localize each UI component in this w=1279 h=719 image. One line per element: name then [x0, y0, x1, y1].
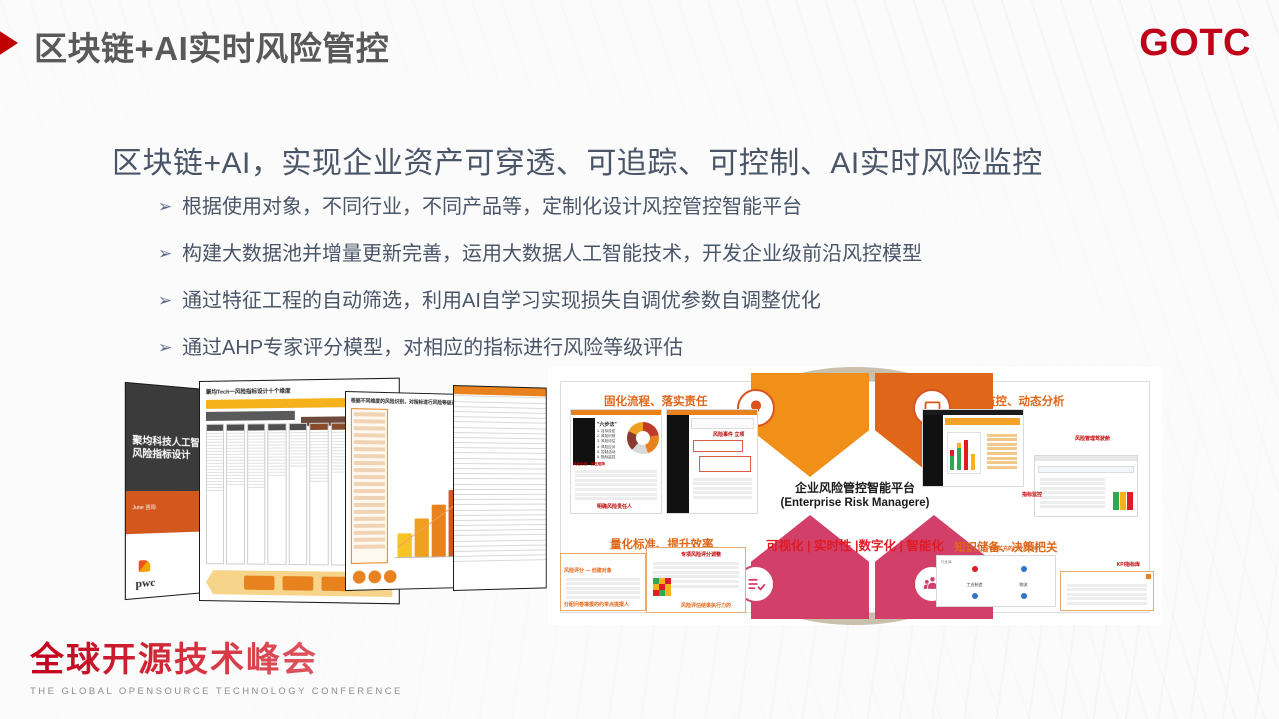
- annotation-cockpit: 风险管理驾驶舱: [1075, 435, 1110, 442]
- chart-page-sidebar: [351, 408, 388, 564]
- bullet-list: ➢ 根据使用对象，不同行业，不同产品等，定制化设计风控管控智能平台 ➢ 构建大数…: [158, 194, 1158, 382]
- matrix-column: [226, 424, 245, 565]
- chart-footer-icon: [384, 570, 397, 583]
- pwc-blocks-icon: [139, 560, 151, 572]
- matrix-page-title: 聚均Tech一风险指标设计十个维度: [206, 387, 291, 396]
- list-item: ➢ 通过AHP专家评分模型，对相应的指标进行风险等级评估: [158, 335, 1158, 361]
- deck-table-page: [453, 385, 547, 591]
- screenshot-indicator-monitor: [1034, 455, 1138, 517]
- matrix-left-group-band: [206, 411, 295, 421]
- annotation-owner: 明确风险责任人: [597, 503, 632, 510]
- industry-tag: 工业制造: [967, 582, 983, 587]
- annotation-score-result: 风险评估结果执行力的: [681, 602, 731, 609]
- wheel-step-list: 1. 目标设定 2. 风险识别 3. 风险评估 4. 风险应对 5. 控制活动 …: [597, 429, 615, 460]
- cover-title-line1: 聚均科技人工智: [132, 435, 199, 449]
- arrow-bullet-icon: ➢: [158, 241, 182, 267]
- screenshot-risk-dashboard: [922, 409, 1024, 487]
- quadrant-label-top-right: 实时监控、动态分析: [961, 393, 1065, 409]
- matrix-chip: [244, 576, 274, 591]
- pwc-wordmark: pwc: [136, 576, 156, 590]
- annotation-scoring: 风险评分 — 创建对象: [564, 567, 612, 574]
- risk-heatmap: [653, 578, 671, 596]
- six-step-donut-chart: [627, 422, 659, 454]
- screenshot-risk-scoring: 风险评分 — 创建对象 分配问卷填报的约束点提报人: [560, 553, 646, 611]
- platform-tags: 可视化 | 实时性 |数字化 | 智能化: [766, 535, 944, 554]
- screenshot-kpi-library: [1060, 571, 1154, 611]
- arrow-bullet-icon: ➢: [158, 194, 182, 220]
- slide-header: 区块链+AI实时风险管控 GOTC: [0, 0, 1279, 86]
- headline: 区块链+AI，实现企业资产可穿透、可追踪、可控制、AI实时风险监控: [112, 138, 1043, 182]
- arrow-bullet-icon: ➢: [158, 335, 182, 361]
- industry-tag: 物流: [1020, 582, 1028, 587]
- wheel-label: "六步法": [597, 421, 617, 428]
- list-item-label: 通过AHP专家评分模型，对相应的指标进行风险等级评估: [182, 335, 683, 361]
- triangle-right-icon: [0, 26, 18, 60]
- screenshot-six-step-wheel: "六步法" 1. 目标设定 2. 风险识别 3. 风险评估 4. 风险应对 5.…: [570, 409, 662, 514]
- cover-title: 聚均科技人工智 风险指标设计: [132, 435, 199, 462]
- chart-footer-icon: [368, 570, 381, 583]
- cover-title-line2: 风险指标设计: [132, 448, 190, 461]
- list-item-label: 构建大数据池并增量更新完善，运用大数据人工智能技术，开发企业级前沿风控模型: [182, 241, 922, 267]
- annotation-special-score: 专项风险评分调整: [681, 551, 721, 558]
- annotation-indicator: 指标监控: [1022, 491, 1042, 498]
- annotation-assign: 分配问卷填报的约束点提报人: [564, 601, 629, 608]
- matrix-chip: [283, 576, 314, 591]
- matrix-column: [247, 423, 266, 564]
- arrow-bullet-icon: ➢: [158, 288, 182, 314]
- screenshot-special-risk-score: 专项风险评分调整 风险评估结果执行力的: [646, 547, 746, 613]
- annotation-industry-library: 不断扩充的行业风险库: [988, 545, 1038, 552]
- list-item: ➢ 通过特征工程的自动筛选，利用AI自学习实现损失自调优参数自调整优化: [158, 288, 1158, 314]
- matrix-column: [268, 423, 287, 565]
- status-color-bars: [1113, 492, 1133, 510]
- annotation-risk-event: 风险事件 立项: [713, 431, 744, 438]
- page-title: 区块链+AI实时风险管控: [34, 22, 389, 70]
- figure-pwc-deck: 聚均科技人工智 风险指标设计 June 咨询 pwc 聚均Tech一风险指标设计…: [121, 381, 553, 601]
- slide-canvas: 区块链+AI实时风险管控 GOTC 区块链+AI，实现企业资产可穿透、可追踪、可…: [0, 0, 1279, 719]
- screenshot-risk-event: 风险事件 立项: [666, 409, 758, 514]
- conference-logo: 全球开源技术峰会 THE GLOBAL OPENSOURCE TECHNOLOG…: [30, 632, 403, 697]
- annotation-kpi-library: KPI指标库: [1117, 561, 1140, 568]
- cover-subtitle: June 咨询: [132, 504, 155, 512]
- figure-erm-platform: 固化流程、落实责任 实时监控、动态分析 量化标准、提升效率 知识储备、决策把关: [548, 367, 1162, 625]
- conference-logo-cn: 全球开源技术峰会: [30, 632, 403, 681]
- list-item: ➢ 构建大数据池并增量更新完善，运用大数据人工智能技术，开发企业级前沿风控模型: [158, 241, 1158, 267]
- matrix-column: [309, 423, 328, 566]
- conference-logo-en: THE GLOBAL OPENSOURCE TECHNOLOGY CONFERE…: [30, 686, 403, 697]
- list-item-label: 根据使用对象，不同行业，不同产品等，定制化设计风控管控智能平台: [182, 194, 802, 220]
- list-item-label: 通过特征工程的自动筛选，利用AI自学习实现损失自调优参数自调整优化: [182, 288, 821, 314]
- screenshot-industry-library: 行业库 工业制造 物流 医疗 最终户 汽车 互联网: [936, 555, 1056, 607]
- matrix-column: [288, 423, 307, 565]
- matrix-column: [206, 424, 224, 565]
- gotc-brand-logo: GOTC: [1139, 22, 1251, 65]
- list-item: ➢ 根据使用对象，不同行业，不同产品等，定制化设计风控管控智能平台: [158, 194, 1158, 220]
- chart-footer-icon: [353, 571, 366, 584]
- quadrant-label-top-left: 固化流程、落实责任: [604, 393, 708, 409]
